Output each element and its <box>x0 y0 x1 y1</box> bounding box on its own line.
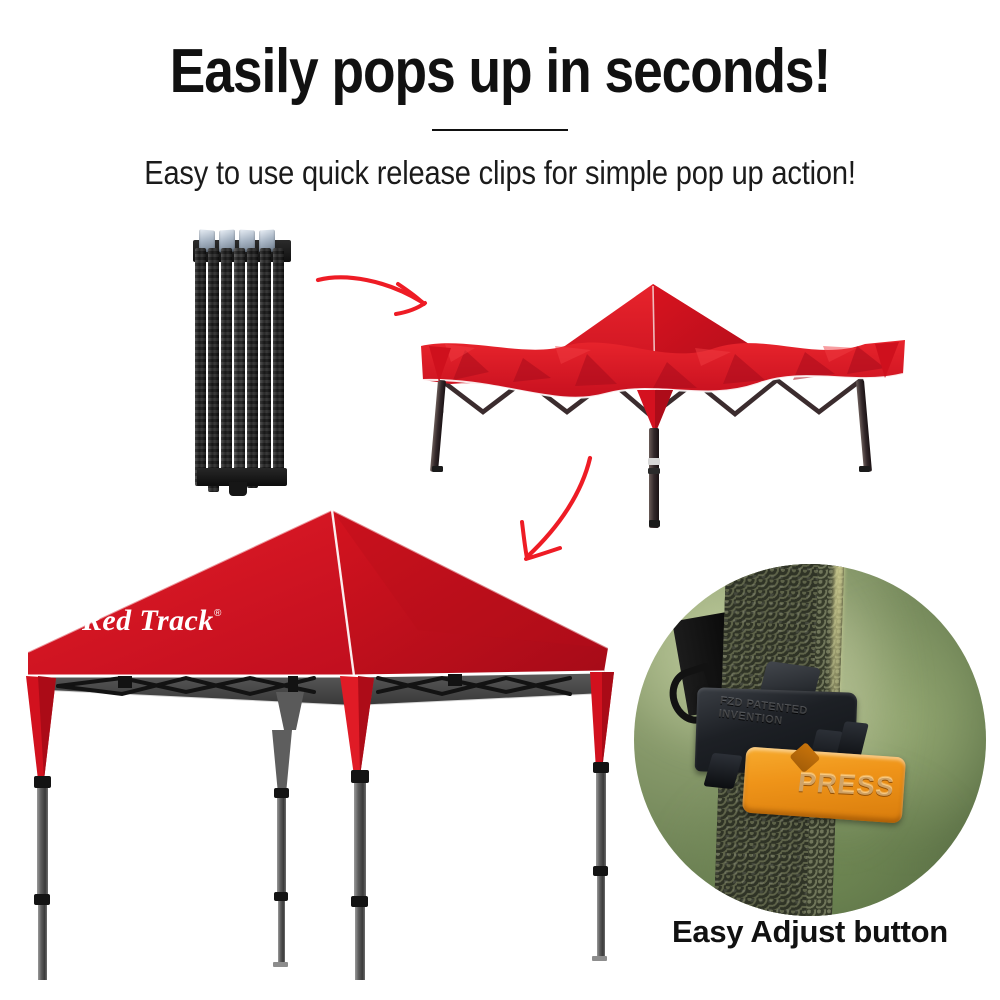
frame-pole <box>260 248 271 484</box>
page-subtitle: Easy to use quick release clips for simp… <box>60 152 940 194</box>
inset-caption: Easy Adjust button <box>634 913 986 951</box>
folded-gazebo-frame <box>193 228 291 490</box>
brand-wordmark: Red Track <box>81 604 214 637</box>
frame-pole <box>208 248 219 492</box>
infographic-canvas: Easily pops up in seconds! Easy to use q… <box>0 0 1000 1000</box>
press-button[interactable]: PRESS <box>742 746 906 823</box>
frame-pole <box>234 248 245 494</box>
fully-erected-gazebo: Red Track ® <box>18 480 638 980</box>
registered-mark: ® <box>214 608 222 619</box>
frame-pole <box>247 248 258 488</box>
title-divider <box>432 129 568 131</box>
frame-pole <box>273 248 284 478</box>
easy-adjust-clip-photo: FZD PATENTED INVENTION PRESS <box>634 564 986 916</box>
frame-pole <box>195 248 206 486</box>
press-button-label: PRESS <box>796 767 910 803</box>
frame-pole <box>221 248 232 482</box>
page-title: Easily pops up in seconds! <box>70 36 930 108</box>
